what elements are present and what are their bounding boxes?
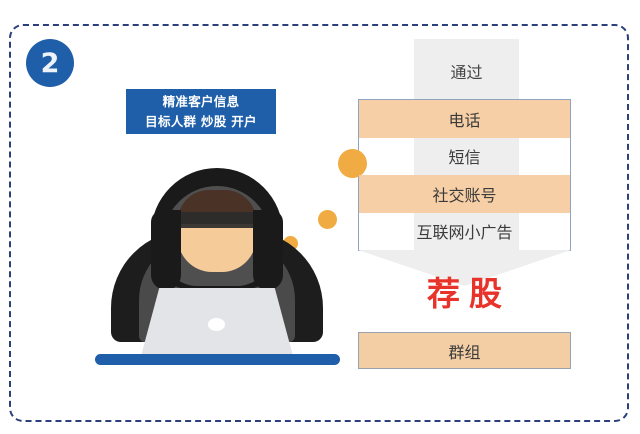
- channel-row-phone: 电话: [359, 100, 570, 138]
- channel-row-internet-ads: 互联网小广告: [359, 213, 570, 251]
- channel-row-social: 社交账号: [359, 175, 570, 213]
- step-number-badge: 2: [26, 39, 74, 87]
- caption-line-1: 精准客户信息: [163, 92, 240, 111]
- group-box: 群组: [358, 332, 571, 369]
- hood-edge-left: [151, 210, 181, 290]
- result-headline: 荐股: [358, 268, 571, 313]
- infographic-canvas: 2 精准客户信息 目标人群 炒股 开户 通过 电话 短信 社交账号 互联网小广告…: [0, 0, 640, 434]
- channel-list-box: 电话 短信 社交账号 互联网小广告: [358, 99, 571, 251]
- hood-edge-right: [253, 210, 283, 290]
- target-info-caption-box: 精准客户信息 目标人群 炒股 开户: [126, 89, 276, 134]
- step-number-label: 2: [41, 50, 60, 77]
- desk-bar-shape: [95, 354, 340, 365]
- laptop-logo-icon: [208, 318, 225, 331]
- caption-line-2: 目标人群 炒股 开户: [145, 112, 257, 131]
- channel-row-sms: 短信: [359, 138, 570, 176]
- hacker-illustration: [95, 168, 340, 368]
- through-label: 通过: [414, 56, 519, 86]
- eye-shadow-band: [178, 212, 256, 228]
